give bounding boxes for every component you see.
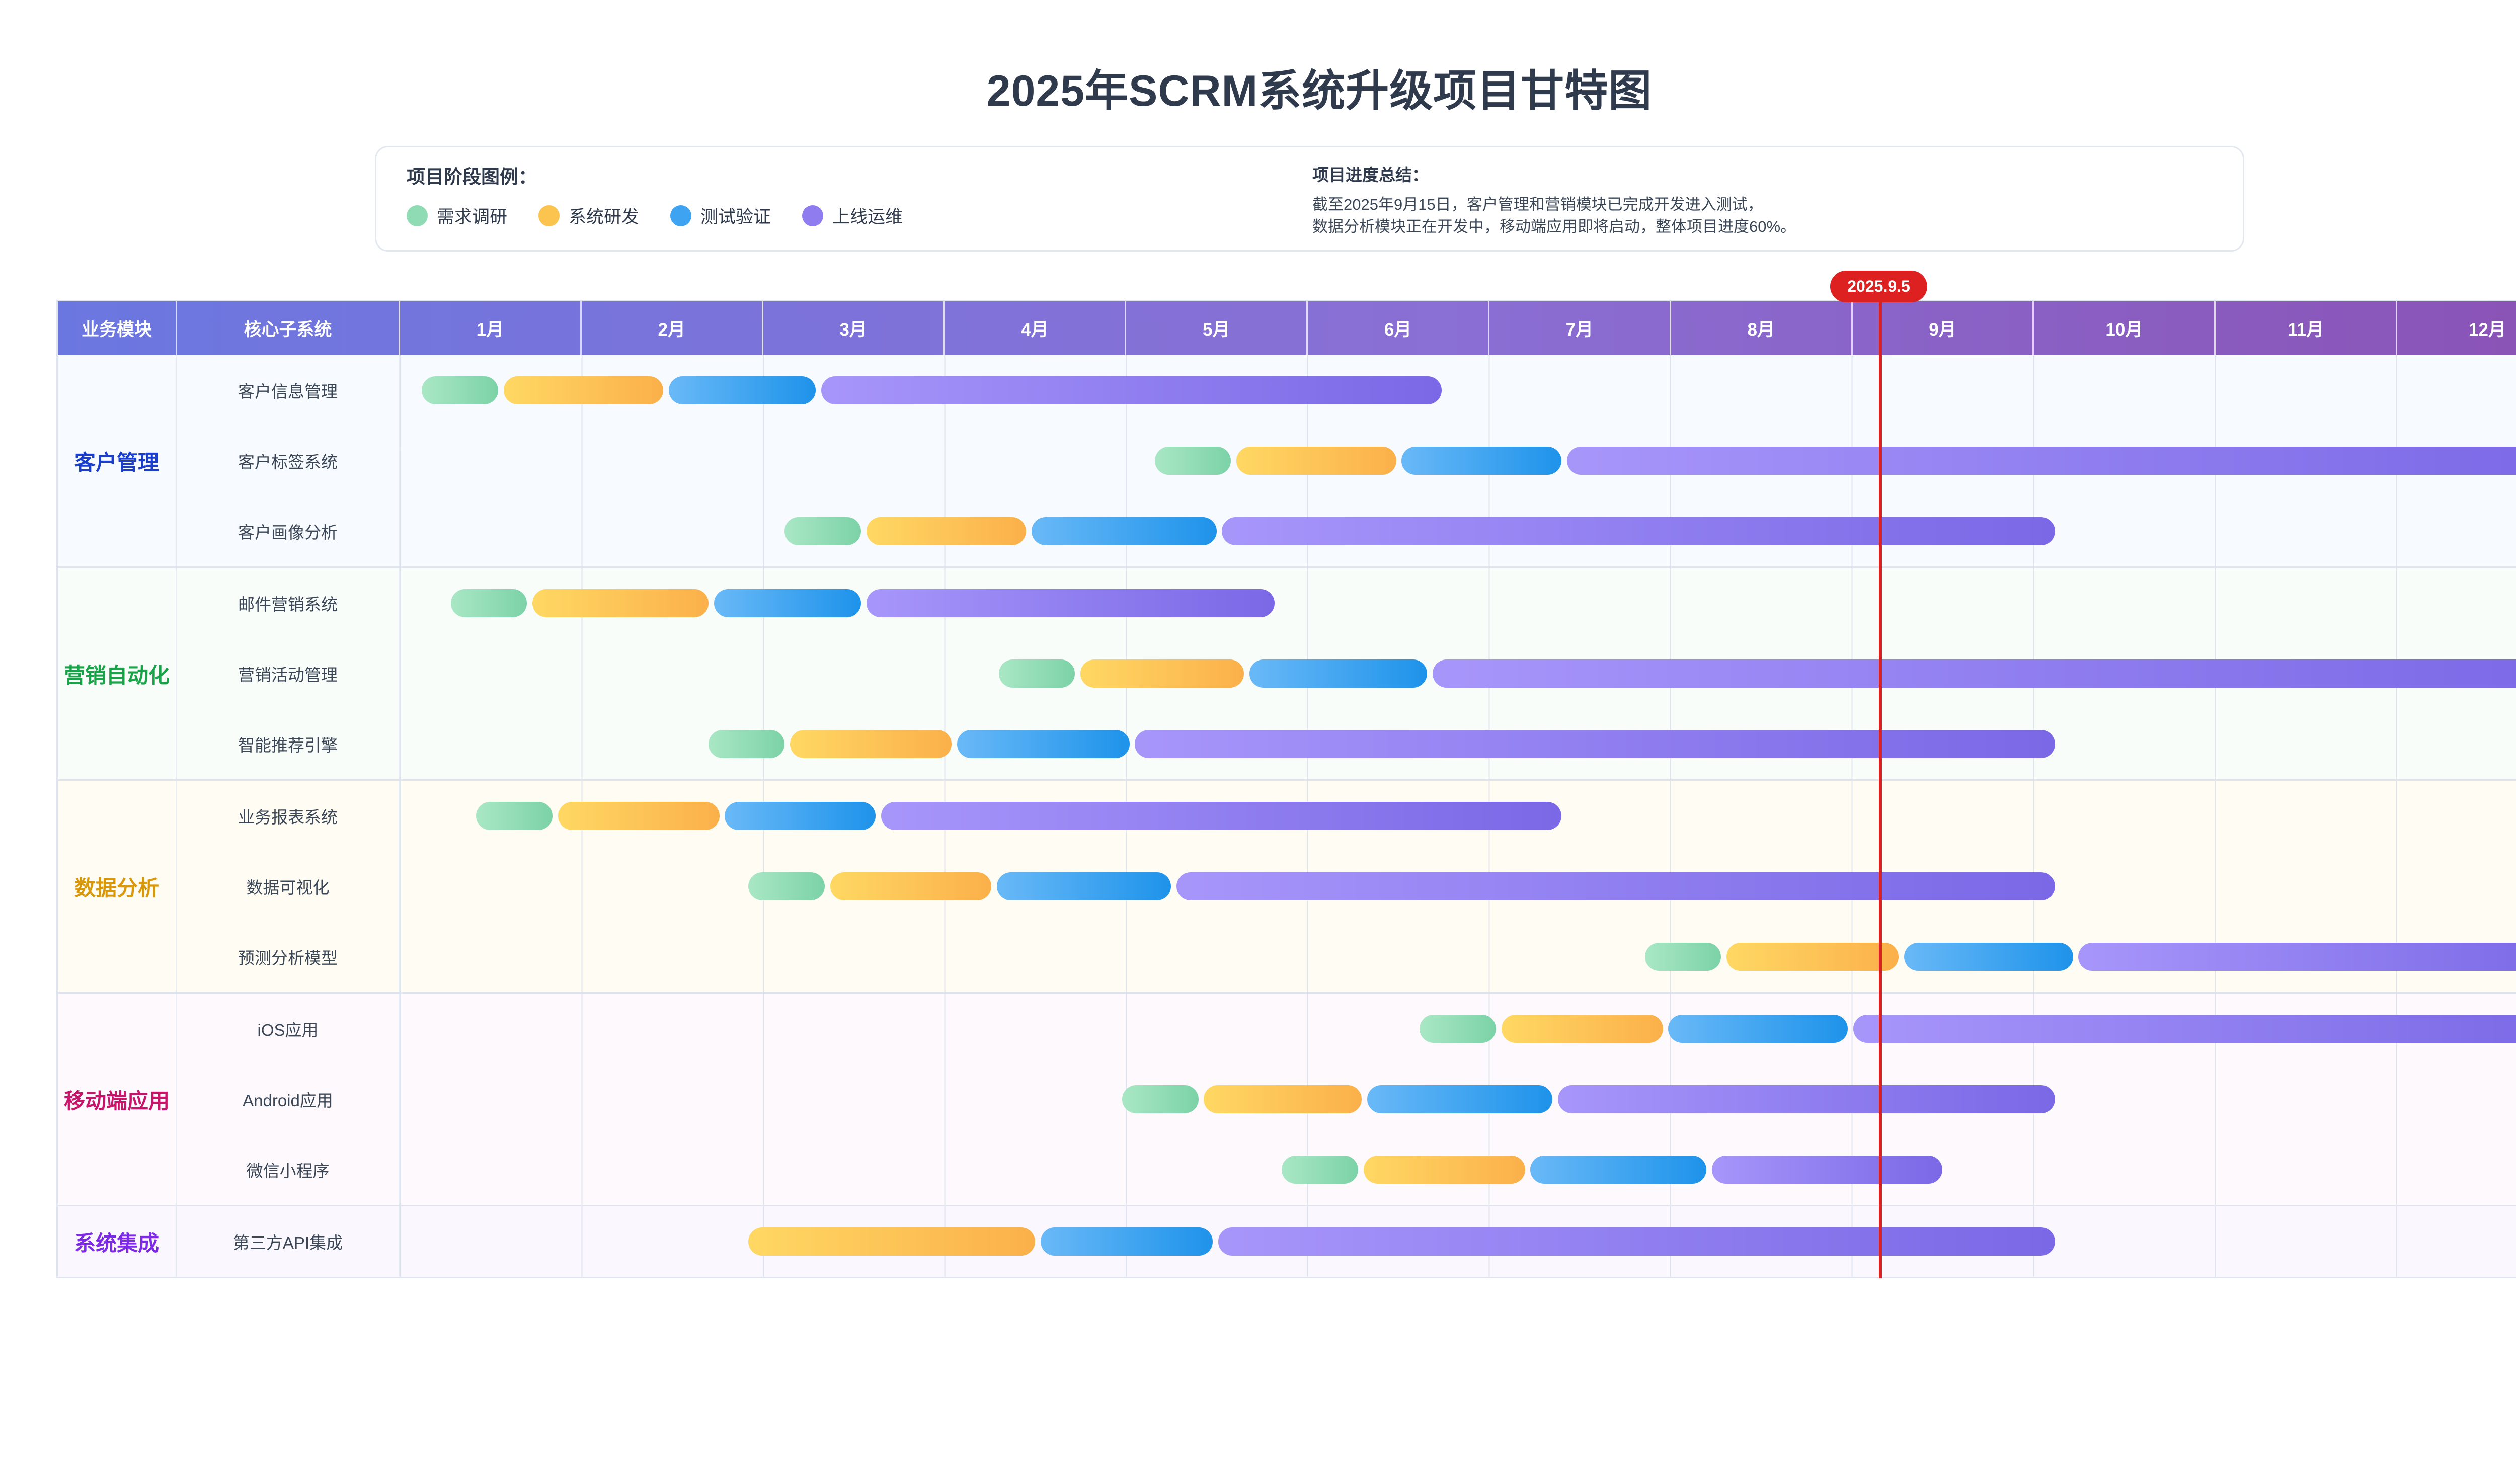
legend-swatch-dev-icon — [538, 205, 560, 226]
legend-label: 上线运维 — [832, 203, 903, 228]
table-row[interactable]: 数据可视化 — [177, 851, 2516, 922]
group-rows: 业务报表系统数据可视化预测分析模型 — [177, 781, 2516, 992]
gantt-bar-test[interactable] — [1401, 447, 1561, 475]
gantt-group: 移动端应用iOS应用Android应用微信小程序 — [58, 992, 2516, 1205]
timeline-track — [400, 1134, 2516, 1205]
gantt-bar-research[interactable] — [1645, 943, 1721, 971]
table-row[interactable]: 业务报表系统 — [177, 781, 2516, 851]
timeline-track — [400, 851, 2516, 922]
gantt-bar-dev[interactable] — [1726, 943, 1899, 971]
gantt-bar-launch[interactable] — [1712, 1156, 1942, 1184]
timeline-track — [400, 1064, 2516, 1134]
table-row[interactable]: 预测分析模型 — [177, 922, 2516, 992]
summary-heading: 项目进度总结： — [1312, 161, 2213, 186]
legend-heading: 项目阶段图例： — [407, 161, 1262, 189]
group-label[interactable]: 移动端应用 — [58, 994, 177, 1205]
gantt-bar-research[interactable] — [476, 802, 552, 830]
timeline-track — [400, 994, 2516, 1064]
subsystem-label[interactable]: 客户标签系统 — [177, 426, 400, 496]
milestone-badge[interactable]: 2025.9.5 — [1830, 271, 1927, 302]
header-month-2[interactable]: 2月 — [582, 301, 763, 355]
timeline-track — [400, 426, 2516, 496]
legend-swatch-research-icon — [407, 205, 428, 226]
subsystem-label[interactable]: 数据可视化 — [177, 851, 400, 922]
legend-item-research[interactable]: 需求调研 — [407, 203, 507, 228]
gantt-bar-research[interactable] — [1282, 1156, 1358, 1184]
gantt-bar-test[interactable] — [1249, 659, 1427, 688]
gantt-bar-research[interactable] — [999, 659, 1075, 688]
header-system[interactable]: 核心子系统 — [177, 301, 400, 355]
gantt-bar-research[interactable] — [1122, 1085, 1198, 1113]
header-month-1[interactable]: 1月 — [400, 301, 582, 355]
header-month-11[interactable]: 11月 — [2216, 301, 2397, 355]
table-row[interactable]: 邮件营销系统 — [177, 568, 2516, 638]
header-module[interactable]: 业务模块 — [58, 301, 177, 355]
gantt-bar-launch[interactable] — [867, 589, 1275, 617]
gantt-bar-test[interactable] — [725, 802, 875, 830]
header-month-12[interactable]: 12月 — [2397, 301, 2516, 355]
gantt-bar-dev[interactable] — [1502, 1015, 1663, 1043]
gantt-bar-test[interactable] — [1041, 1227, 1213, 1256]
gantt-group: 营销自动化邮件营销系统营销活动管理智能推荐引擎 — [58, 566, 2516, 779]
header-month-10[interactable]: 10月 — [2034, 301, 2216, 355]
progress-summary: 项目进度总结： 截至2025年9月15日，客户管理和营销模块已完成开发进入测试，… — [1312, 161, 2213, 238]
page-title: 2025年SCRM系统升级项目甘特图 — [0, 55, 2516, 118]
gantt-bar-dev[interactable] — [1236, 447, 1396, 475]
group-label[interactable]: 客户管理 — [58, 355, 177, 566]
gantt-bar-dev[interactable] — [1204, 1085, 1362, 1113]
gantt-bar-dev[interactable] — [867, 517, 1026, 545]
table-row[interactable]: 客户标签系统 — [177, 426, 2516, 496]
gantt-bar-test[interactable] — [1530, 1156, 1706, 1184]
gantt-group: 系统集成第三方API集成 — [58, 1205, 2516, 1277]
group-rows: 第三方API集成 — [177, 1206, 2516, 1277]
group-label[interactable]: 系统集成 — [58, 1206, 177, 1277]
gantt-group: 客户管理客户信息管理客户标签系统客户画像分析 — [58, 355, 2516, 566]
gantt-bar-test[interactable] — [1032, 517, 1217, 545]
legend-item-list: 需求调研系统研发测试验证上线运维 — [407, 203, 1262, 228]
legend: 项目阶段图例： 需求调研系统研发测试验证上线运维 — [407, 161, 1262, 228]
gantt-bar-dev[interactable] — [504, 376, 663, 404]
gantt-bar-dev[interactable] — [558, 802, 720, 830]
subsystem-label[interactable]: 客户画像分析 — [177, 496, 400, 566]
subsystem-label[interactable]: 智能推荐引擎 — [177, 709, 400, 779]
gantt-body: 客户管理客户信息管理客户标签系统客户画像分析营销自动化邮件营销系统营销活动管理智… — [58, 355, 2516, 1277]
gantt-bar-dev[interactable] — [748, 1227, 1035, 1256]
gantt-bar-dev[interactable] — [532, 589, 709, 617]
gantt-bar-launch[interactable] — [1135, 730, 2055, 758]
gantt-bar-research[interactable] — [451, 589, 527, 617]
timeline-track — [400, 638, 2516, 709]
table-row[interactable]: 第三方API集成 — [177, 1206, 2516, 1277]
gantt-bar-test[interactable] — [714, 589, 861, 617]
legend-label: 需求调研 — [437, 203, 507, 228]
table-row[interactable]: 客户信息管理 — [177, 355, 2516, 426]
header-month-7[interactable]: 7月 — [1489, 301, 1671, 355]
header-month-8[interactable]: 8月 — [1671, 301, 1853, 355]
legend-label: 测试验证 — [700, 203, 771, 228]
gantt-bar-launch[interactable] — [1433, 659, 2516, 688]
subsystem-label[interactable]: 营销活动管理 — [177, 638, 400, 709]
gantt-group: 数据分析业务报表系统数据可视化预测分析模型 — [58, 779, 2516, 992]
gantt-bar-launch[interactable] — [1853, 1015, 2516, 1043]
gantt-bar-test[interactable] — [1367, 1085, 1552, 1113]
timeline-track — [400, 709, 2516, 779]
group-rows: 客户信息管理客户标签系统客户画像分析 — [177, 355, 2516, 566]
group-rows: iOS应用Android应用微信小程序 — [177, 994, 2516, 1205]
subsystem-label[interactable]: iOS应用 — [177, 994, 400, 1064]
gantt-bar-launch[interactable] — [2078, 943, 2516, 971]
gantt-bar-test[interactable] — [1668, 1015, 1848, 1043]
header-month-4[interactable]: 4月 — [945, 301, 1126, 355]
header-month-3[interactable]: 3月 — [763, 301, 945, 355]
header-month-6[interactable]: 6月 — [1308, 301, 1489, 355]
subsystem-label[interactable]: 第三方API集成 — [177, 1206, 400, 1277]
milestone-line — [1879, 300, 1882, 1278]
subsystem-label[interactable]: 邮件营销系统 — [177, 568, 400, 638]
legend-swatch-launch-icon — [802, 205, 823, 226]
gantt-bar-launch[interactable] — [881, 802, 1561, 830]
timeline-track — [400, 355, 2516, 426]
legend-swatch-test-icon — [670, 205, 691, 226]
header-month-5[interactable]: 5月 — [1126, 301, 1308, 355]
table-row[interactable]: iOS应用 — [177, 994, 2516, 1064]
legend-item-dev[interactable]: 系统研发 — [538, 203, 639, 228]
info-panel: 项目阶段图例： 需求调研系统研发测试验证上线运维 项目进度总结： 截至2025年… — [375, 146, 2244, 252]
timeline-track — [400, 781, 2516, 851]
group-label[interactable]: 营销自动化 — [58, 568, 177, 779]
group-label[interactable]: 数据分析 — [58, 781, 177, 992]
summary-line-2: 数据分析模块正在开发中，移动端应用即将启动，整体项目进度60%。 — [1312, 216, 2213, 238]
table-row[interactable]: 客户画像分析 — [177, 496, 2516, 566]
gantt-bar-test[interactable] — [669, 376, 816, 404]
subsystem-label[interactable]: 预测分析模型 — [177, 922, 400, 992]
table-row[interactable]: Android应用 — [177, 1064, 2516, 1134]
timeline-track — [400, 568, 2516, 638]
legend-item-test[interactable]: 测试验证 — [670, 203, 771, 228]
gantt-bar-dev[interactable] — [830, 872, 992, 900]
gantt-chart: 业务模块核心子系统1月2月3月4月5月6月7月8月9月10月11月12月 客户管… — [56, 300, 2516, 1278]
gantt-bar-launch[interactable] — [1567, 447, 2516, 475]
gantt-bar-research[interactable] — [748, 872, 824, 900]
gantt-bar-launch[interactable] — [1218, 1227, 2055, 1256]
subsystem-label[interactable]: 微信小程序 — [177, 1134, 400, 1205]
legend-item-launch[interactable]: 上线运维 — [802, 203, 903, 228]
gantt-bar-research[interactable] — [422, 376, 498, 404]
gantt-bar-test[interactable] — [1904, 943, 2073, 971]
gantt-bar-test[interactable] — [957, 730, 1130, 758]
timeline-track — [400, 496, 2516, 566]
summary-line-1: 截至2025年9月15日，客户管理和营销模块已完成开发进入测试， — [1312, 194, 2213, 216]
table-row[interactable]: 智能推荐引擎 — [177, 709, 2516, 779]
gantt-bar-launch[interactable] — [1222, 517, 2055, 545]
gantt-bar-dev[interactable] — [1080, 659, 1244, 688]
gantt-bar-research[interactable] — [709, 730, 784, 758]
gantt-header-row: 业务模块核心子系统1月2月3月4月5月6月7月8月9月10月11月12月 — [58, 300, 2516, 355]
gantt-bar-dev[interactable] — [790, 730, 952, 758]
gantt-bar-research[interactable] — [784, 517, 860, 545]
gantt-bar-launch[interactable] — [1558, 1085, 2055, 1113]
group-rows: 邮件营销系统营销活动管理智能推荐引擎 — [177, 568, 2516, 779]
subsystem-label[interactable]: Android应用 — [177, 1064, 400, 1134]
gantt-bar-launch[interactable] — [821, 376, 1442, 404]
timeline-track — [400, 1206, 2516, 1277]
subsystem-label[interactable]: 客户信息管理 — [177, 355, 400, 426]
gantt-bar-test[interactable] — [997, 872, 1171, 900]
gantt-bar-research[interactable] — [1420, 1015, 1496, 1043]
legend-label: 系统研发 — [569, 203, 639, 228]
table-row[interactable]: 微信小程序 — [177, 1134, 2516, 1205]
timeline-track — [400, 922, 2516, 992]
gantt-bar-dev[interactable] — [1364, 1156, 1525, 1184]
gantt-bar-launch[interactable] — [1176, 872, 2055, 900]
subsystem-label[interactable]: 业务报表系统 — [177, 781, 400, 851]
gantt-bar-research[interactable] — [1155, 447, 1231, 475]
table-row[interactable]: 营销活动管理 — [177, 638, 2516, 709]
